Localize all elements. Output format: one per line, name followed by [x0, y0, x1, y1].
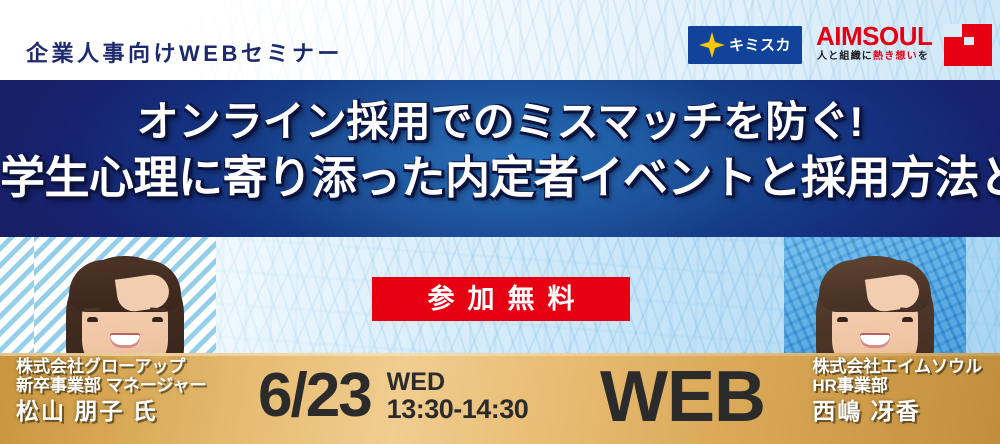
avatar-left-eye-left: [87, 317, 98, 322]
avatar-right-eye-right: [902, 317, 913, 322]
four-point-star-icon: [699, 32, 725, 58]
avatar-right-fringe: [819, 260, 931, 312]
aimsoul-tagline-prefix: 人と組織に: [817, 51, 873, 62]
aimsoul-notch-lower: [964, 37, 974, 45]
header-title: 企業人事向けWEBセミナー: [26, 36, 343, 68]
speaker-left-org: 株式会社グローアップ: [16, 358, 207, 376]
event-time: 13:30-14:30: [387, 395, 529, 423]
event-date: 6/23: [258, 360, 371, 432]
kimisuka-logo-text: キミスカ: [729, 38, 791, 53]
free-participation-badge: 参加無料: [372, 277, 630, 321]
seminar-title-line-2: 学生心理に寄り添った内定者イベントと採用方法とは: [0, 152, 1000, 204]
free-participation-label: 参加無料: [415, 286, 588, 313]
speaker-info-right: 株式会社エイムソウル HR事業部 西嶋 冴香: [812, 358, 982, 424]
event-datetime: 6/23 WED 13:30-14:30: [258, 360, 528, 432]
aimsoul-tagline: 人と組織に熱き想いを: [817, 51, 929, 63]
speaker-left-name: 松山 朋子 氏: [16, 399, 207, 424]
event-venue: WEB: [600, 357, 765, 437]
seminar-title-line-1: オンライン採用でのミスマッチを防ぐ!: [0, 98, 1000, 146]
logo-row: キミスカ AIMSOUL 人と組織に熱き想いを: [688, 22, 992, 68]
aimsoul-tagline-suffix: を: [918, 51, 929, 62]
avatar-left-eye-right: [152, 317, 163, 322]
aimsoul-tagline-accent: 熱き想い: [873, 51, 918, 62]
speaker-right-org: 株式会社エイムソウル: [812, 358, 982, 376]
title-band: オンライン採用でのミスマッチを防ぐ! 学生心理に寄り添った内定者イベントと採用方…: [0, 80, 1000, 237]
aimsoul-notch-upper: [944, 24, 962, 37]
avatar-right-eye-left: [837, 317, 848, 322]
speaker-left-dept: 新卒事業部 マネージャー: [16, 377, 207, 395]
aimsoul-logo-text: AIMSOUL: [816, 22, 932, 50]
event-datetime-stack: WED 13:30-14:30: [387, 369, 529, 423]
speaker-right-name: 西嶋 冴香: [812, 399, 982, 424]
speaker-info-left: 株式会社グローアップ 新卒事業部 マネージャー 松山 朋子 氏: [16, 358, 207, 424]
speaker-right-dept: HR事業部: [812, 377, 982, 395]
avatar-left-fringe: [69, 260, 181, 312]
kimisuka-logo[interactable]: キミスカ: [688, 26, 802, 64]
webinar-banner: 企業人事向けWEBセミナー キミスカ AIMSOUL 人と組織に熱き想いを オン…: [0, 0, 1000, 444]
aimsoul-logo[interactable]: AIMSOUL 人と組織に熱き想いを: [816, 22, 992, 68]
event-day-of-week: WED: [387, 369, 529, 395]
